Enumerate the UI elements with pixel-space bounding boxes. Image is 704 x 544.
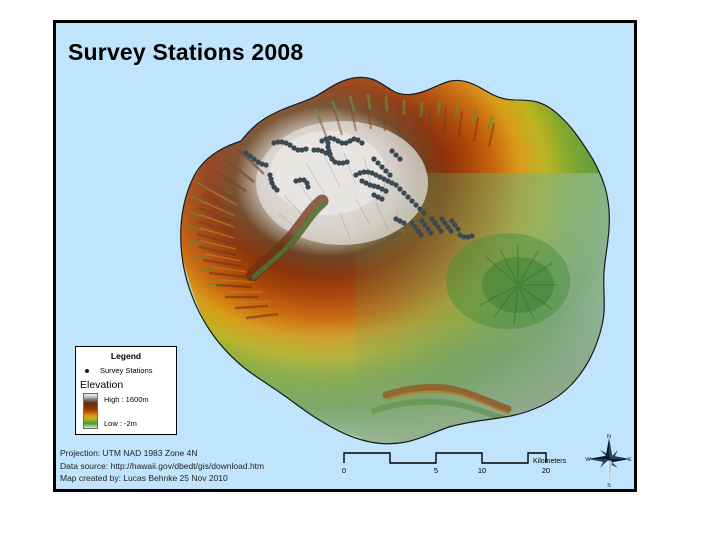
compass-label-east: E [628, 457, 632, 463]
elevation-color-ramp [83, 393, 98, 429]
scale-tick-10: 10 [478, 466, 486, 475]
legend-elevation-heading: Elevation [76, 379, 176, 391]
compass-label-south: S [607, 483, 611, 489]
map-title: Survey Stations 2008 [68, 39, 303, 66]
elevation-low-label: Low : -2m [104, 419, 137, 428]
map-frame: Survey Stations 2008 Legend Survey Stati… [53, 20, 637, 492]
north-arrow: N E S W [583, 432, 635, 490]
metadata-author: Map created by: Lucas Behnke 25 Nov 2010 [60, 472, 264, 485]
legend-elevation-ramp: High : 1600m Low : -2m [76, 393, 176, 431]
scale-bar: 0 5 10 20 Kilometers [341, 447, 551, 481]
scale-bar-graphic [344, 453, 546, 463]
scale-bar-units: Kilometers [533, 458, 566, 465]
scale-tick-5: 5 [434, 466, 438, 475]
legend-item-label: Survey Stations [100, 366, 153, 375]
elevation-high-label: High : 1600m [104, 395, 149, 404]
metadata-projection: Projection: UTM NAD 1983 Zone 4N [60, 447, 264, 460]
scale-tick-20: 20 [542, 466, 550, 475]
legend-title: Legend [76, 351, 176, 361]
legend: Legend Survey Stations Elevation High : … [75, 346, 177, 435]
legend-item-survey-stations: Survey Stations [76, 366, 176, 375]
map-metadata: Projection: UTM NAD 1983 Zone 4N Data so… [60, 447, 264, 485]
compass-label-north: N [607, 434, 611, 440]
compass-label-west: W [585, 457, 591, 463]
point-dot-icon [85, 369, 89, 373]
map-page: Survey Stations 2008 Legend Survey Stati… [0, 0, 704, 544]
scale-tick-0: 0 [342, 466, 346, 475]
metadata-data-source: Data source: http://hawaii.gov/dbedt/gis… [60, 460, 264, 473]
